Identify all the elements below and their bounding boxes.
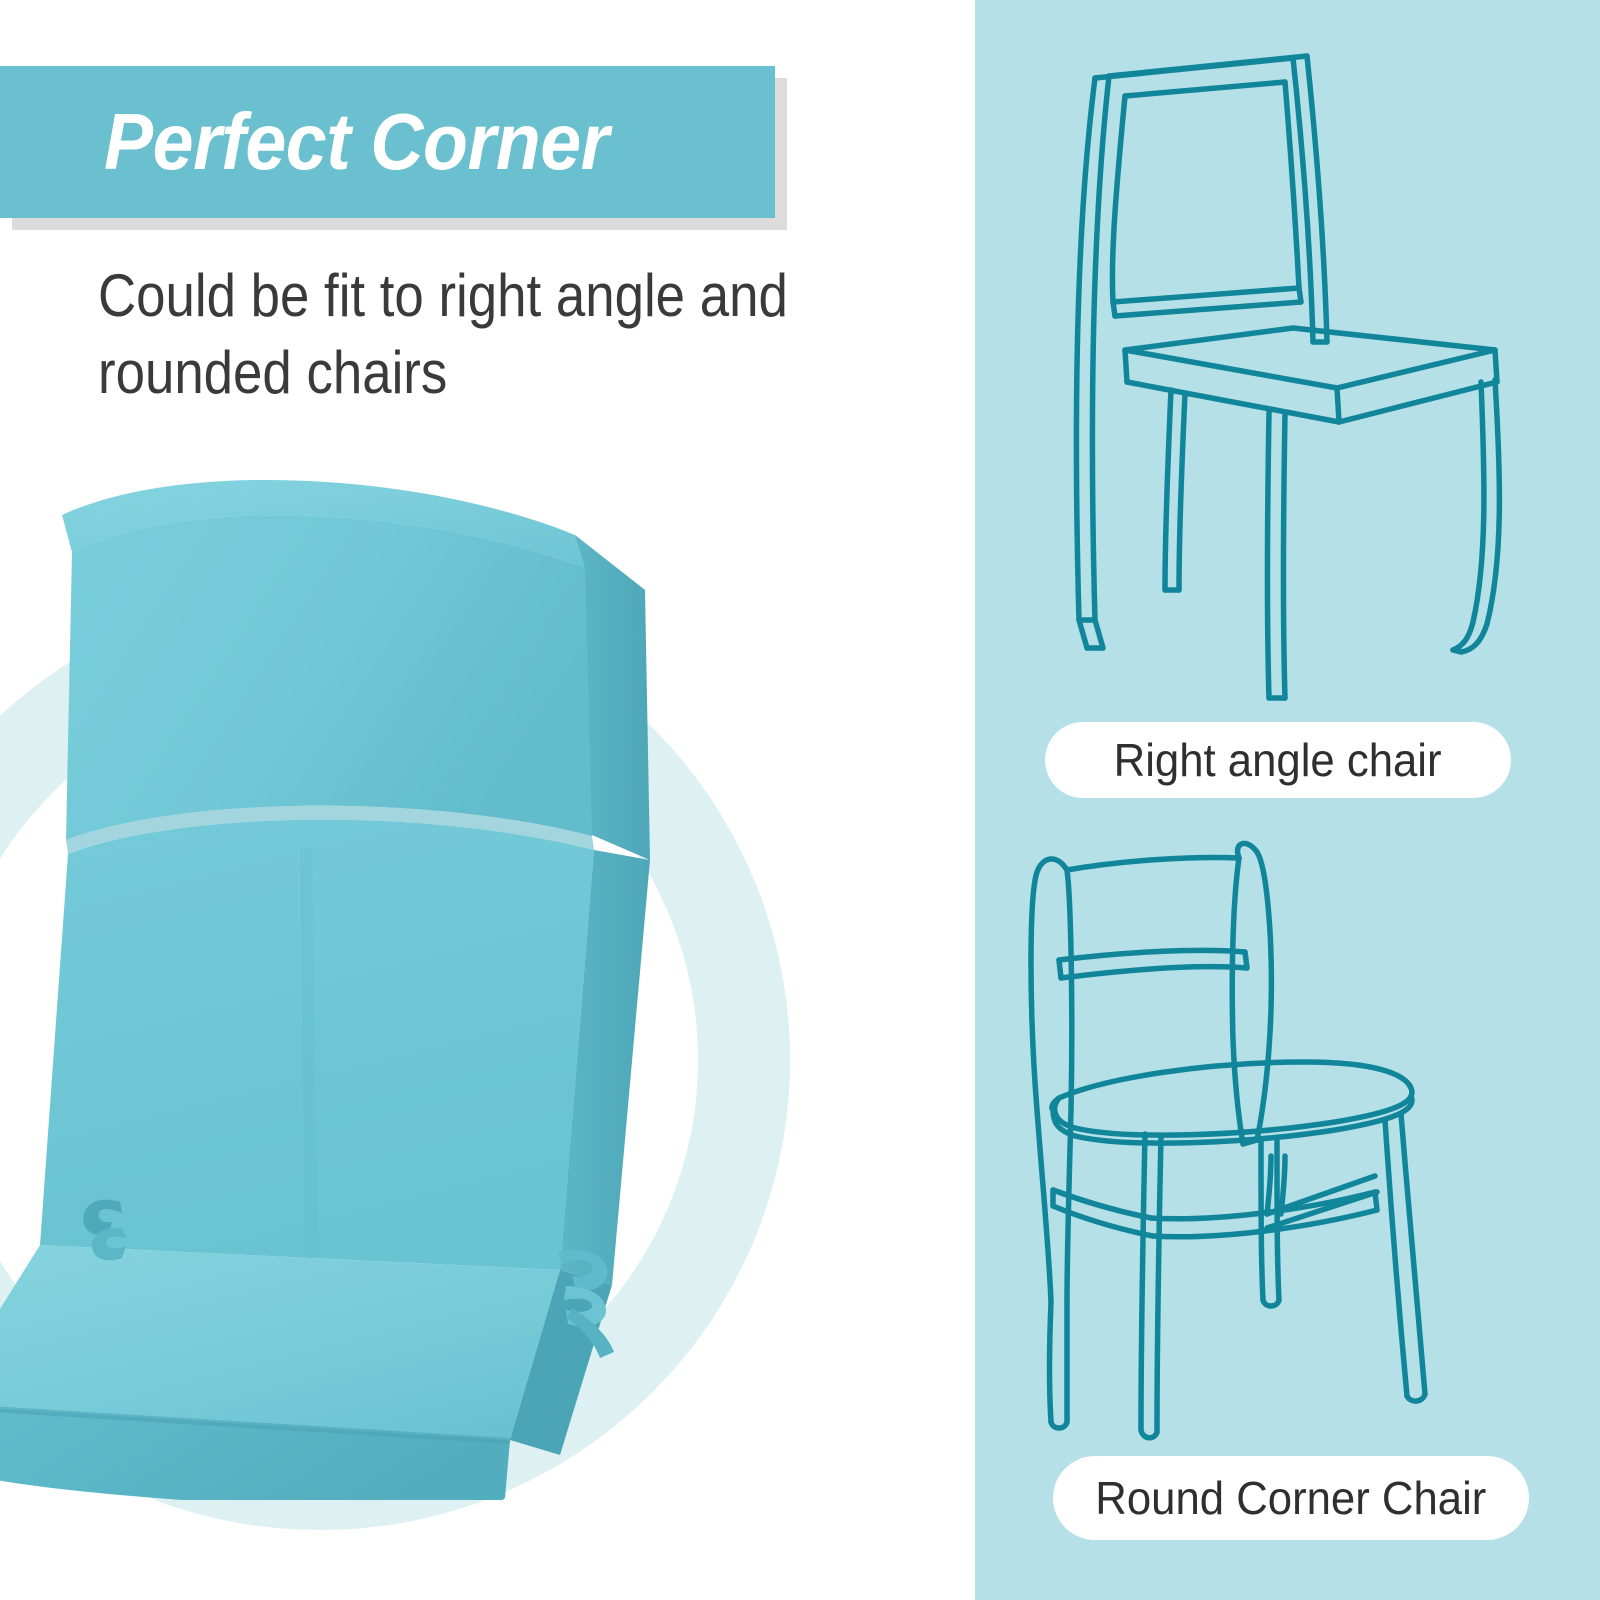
page-title: Perfect Corner xyxy=(104,66,711,218)
right-angle-chair-illustration xyxy=(975,30,1600,710)
right-angle-chair-label-text: Right angle chair xyxy=(1114,733,1442,787)
round-corner-chair-label-text: Round Corner Chair xyxy=(1095,1471,1486,1525)
round-corner-chair-label: Round Corner Chair xyxy=(1053,1456,1529,1540)
infographic-page: Perfect Corner Could be fit to right ang… xyxy=(0,0,1600,1600)
right-angle-chair-label: Right angle chair xyxy=(1045,722,1511,798)
cushion-illustration xyxy=(0,440,760,1500)
product-cushion-image xyxy=(0,440,760,1500)
round-corner-chair-illustration xyxy=(975,810,1600,1470)
left-panel: Perfect Corner Could be fit to right ang… xyxy=(0,0,975,1600)
subtitle-text: Could be fit to right angle and rounded … xyxy=(98,258,846,412)
right-panel: Right angle chair xyxy=(975,0,1600,1600)
